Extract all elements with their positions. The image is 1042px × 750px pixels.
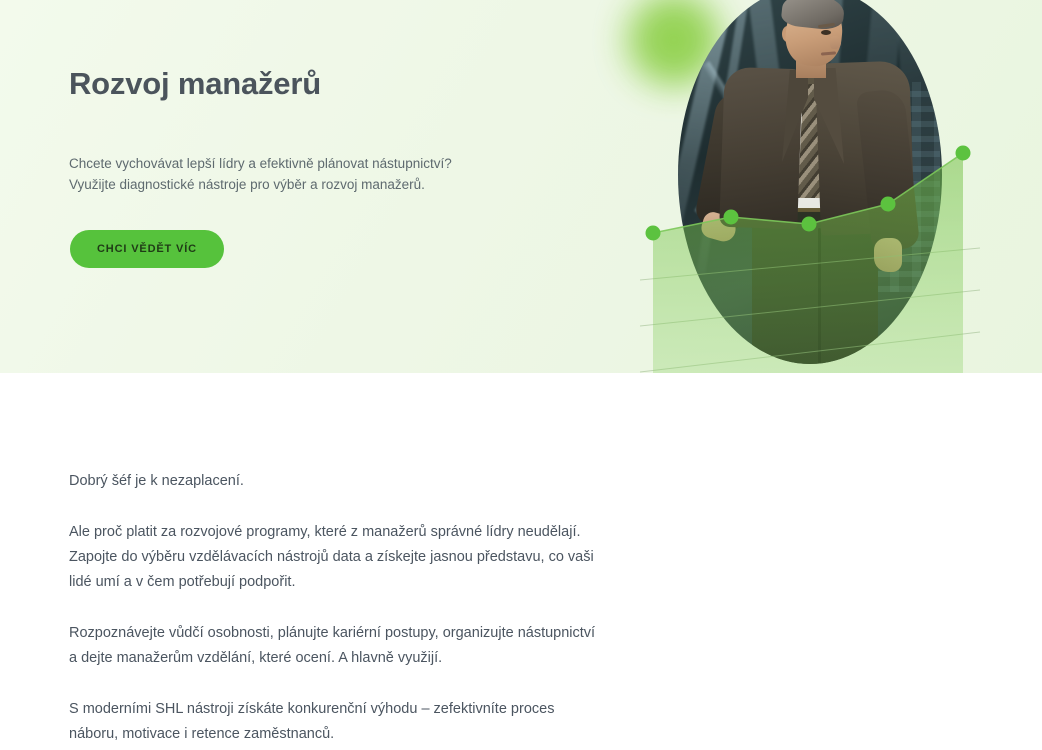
body-paragraph: Dobrý šéf je k nezaplacení. (69, 469, 599, 494)
chart-point (956, 146, 971, 161)
body-paragraph: Ale proč platit za rozvojové programy, k… (69, 520, 599, 595)
chart-point (646, 226, 661, 241)
page-title: Rozvoj manažerů (69, 66, 321, 102)
hero-section: Rozvoj manažerů Chcete vychovávat lepší … (0, 0, 1042, 373)
manager-portrait-photo (678, 0, 942, 364)
photo-subject (678, 0, 942, 364)
body-paragraph: S moderními SHL nástroji získáte konkure… (69, 697, 599, 747)
body-copy: Dobrý šéf je k nezaplacení. Ale proč pla… (69, 469, 599, 747)
landing-page: Rozvoj manažerů Chcete vychovávat lepší … (0, 0, 1042, 750)
hero-subtitle-line-2: Využijte diagnostické nástroje pro výběr… (69, 174, 452, 195)
content-section: Dobrý šéf je k nezaplacení. Ale proč pla… (0, 373, 1042, 750)
hero-subtitle-line-1: Chcete vychovávat lepší lídry a efektivn… (69, 153, 452, 174)
cta-button[interactable]: CHCI VĚDĚT VÍC (70, 230, 224, 268)
hero-subtitle: Chcete vychovávat lepší lídry a efektivn… (69, 153, 452, 195)
body-paragraph: Rozpoznávejte vůdčí osobnosti, plánujte … (69, 621, 599, 671)
